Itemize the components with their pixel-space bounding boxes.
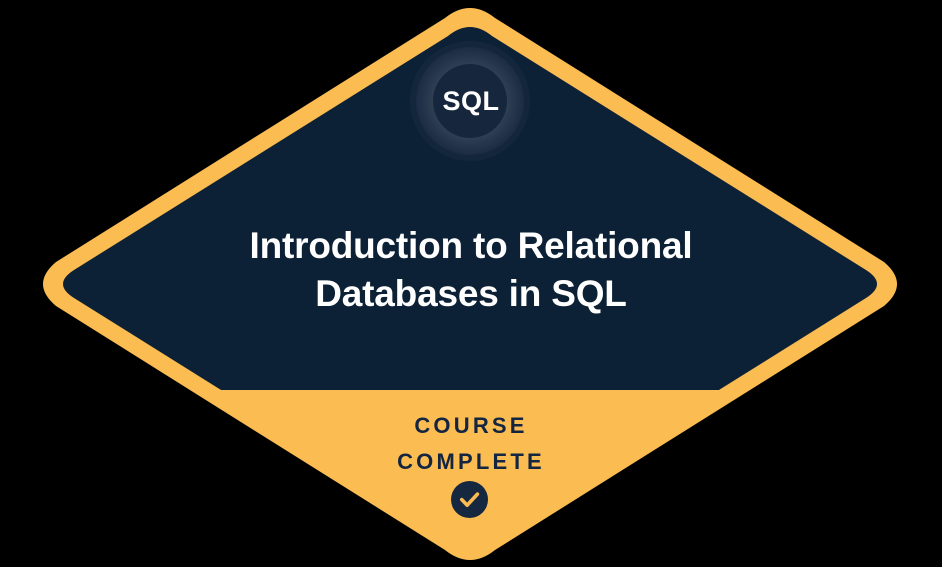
course-completion-badge: SQL Introduction to Relational Databases… xyxy=(0,0,942,567)
sql-chip-icon xyxy=(410,41,530,161)
check-circle-icon xyxy=(451,481,488,518)
